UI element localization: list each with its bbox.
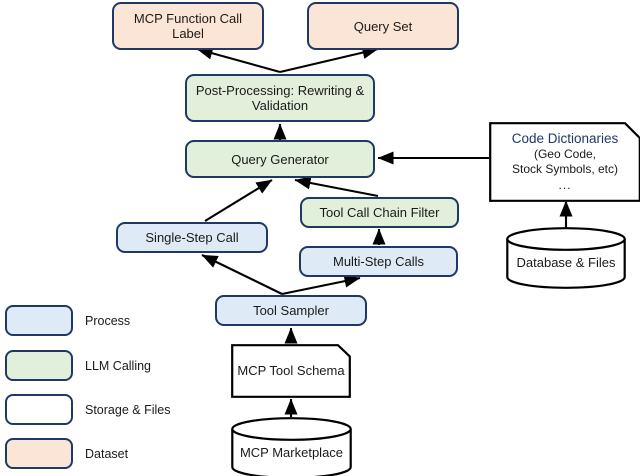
node-mcp-tool-schema[interactable]: MCP Tool Schema (231, 344, 351, 398)
node-label: Query Set (350, 19, 417, 34)
code-dictionaries-subtitle-1: (Geo Code, (534, 147, 596, 162)
legend-swatch-llm-calling (5, 350, 73, 381)
legend-swatch-process (5, 305, 73, 336)
node-single-step-call[interactable]: Single-Step Call (116, 222, 268, 253)
node-label: Multi-Step Calls (329, 254, 428, 269)
node-multi-step-calls[interactable]: Multi-Step Calls (299, 246, 458, 277)
code-dictionaries-title: Code Dictionaries (512, 131, 619, 147)
node-mcp-function-call-label[interactable]: MCP Function Call Label (112, 2, 264, 50)
node-label-text: MCP Tool Schema (237, 363, 344, 379)
legend-label-llm-calling: LLM Calling (85, 359, 151, 373)
node-label: MCP Marketplace (231, 417, 352, 476)
edge-toolsampler-to-multistep (282, 278, 360, 294)
node-label-text: MCP Marketplace (240, 445, 343, 461)
edge-toolsampler-to-singlestep (202, 255, 282, 294)
legend-swatch-storage-files (5, 394, 73, 425)
node-label-text: Database & Files (517, 255, 616, 271)
node-post-processing[interactable]: Post-Processing: Rewriting & Validation (185, 74, 375, 122)
edge-chainfilter-to-querygen (295, 180, 378, 196)
node-label: Database & Files (506, 227, 626, 289)
node-label-group: Code Dictionaries (Geo Code, Stock Symbo… (489, 122, 640, 202)
diagram-canvas: MCP Function Call Label Query Set Post-P… (0, 0, 640, 476)
node-tool-call-chain-filter[interactable]: Tool Call Chain Filter (300, 197, 459, 228)
node-label: MCP Tool Schema (231, 344, 351, 398)
code-dictionaries-subtitle-2: Stock Symbols, etc) (512, 162, 618, 177)
node-label: Query Generator (227, 152, 333, 167)
legend-label-storage-files: Storage & Files (85, 403, 170, 417)
edge-singlestep-to-querygen (205, 180, 272, 221)
node-label: Post-Processing: Rewriting & Validation (187, 83, 373, 113)
node-label: Tool Sampler (249, 303, 333, 318)
node-mcp-marketplace[interactable]: MCP Marketplace (231, 417, 352, 476)
edge-postprocessing-to-mcp-label (197, 49, 280, 72)
edge-postprocessing-to-query-set (280, 49, 378, 72)
node-label: MCP Function Call Label (114, 11, 262, 41)
node-code-dictionaries[interactable]: Code Dictionaries (Geo Code, Stock Symbo… (489, 122, 640, 202)
code-dictionaries-ellipsis: ... (558, 177, 571, 193)
legend-label-process: Process (85, 314, 130, 328)
node-database-and-files[interactable]: Database & Files (506, 227, 626, 289)
node-tool-sampler[interactable]: Tool Sampler (215, 295, 367, 326)
node-query-generator[interactable]: Query Generator (185, 140, 375, 178)
node-label: Single-Step Call (141, 230, 242, 245)
node-query-set[interactable]: Query Set (307, 2, 459, 50)
legend-label-dataset: Dataset (85, 447, 128, 461)
node-label: Tool Call Chain Filter (316, 205, 444, 220)
legend-swatch-dataset (5, 438, 73, 469)
